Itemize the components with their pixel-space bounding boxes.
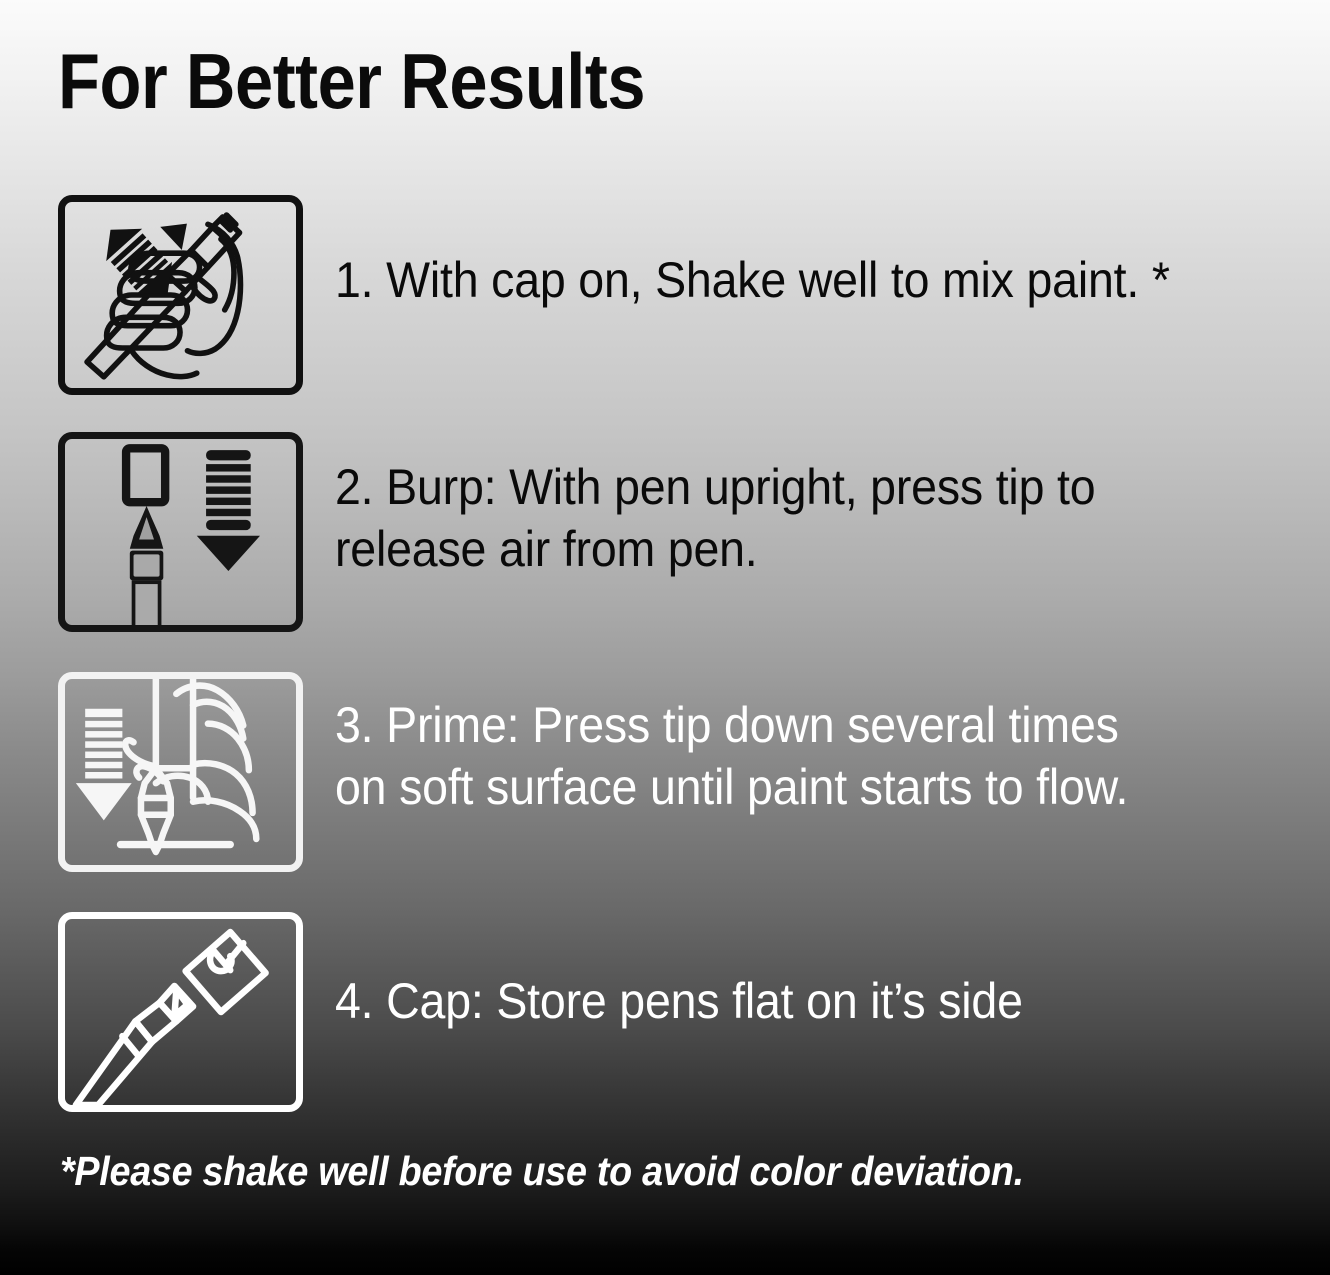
burp-pen-icon [58,432,303,632]
step-row-2: 2. Burp: With pen upright, press tip to … [0,432,1330,632]
step-row-4: 4. Cap: Store pens flat on it’s side [0,912,1330,1112]
instruction-graphic: For Better Results [0,0,1330,1275]
footnote-text: *Please shake well before use to avoid c… [60,1148,1024,1195]
step-row-3: 3. Prime: Press tip down several times o… [0,672,1330,872]
step-text-4: 4. Cap: Store pens flat on it’s side [335,970,1023,1032]
prime-pen-icon [58,672,303,872]
step-text-1: 1. With cap on, Shake well to mix paint.… [335,249,1170,311]
page-title: For Better Results [58,42,645,120]
step-text-3: 3. Prime: Press tip down several times o… [335,694,1128,818]
shake-pen-icon [58,195,303,395]
step-text-2: 2. Burp: With pen upright, press tip to … [335,456,1095,580]
cap-pen-icon [58,912,303,1112]
step-row-1: 1. With cap on, Shake well to mix paint.… [0,195,1330,395]
